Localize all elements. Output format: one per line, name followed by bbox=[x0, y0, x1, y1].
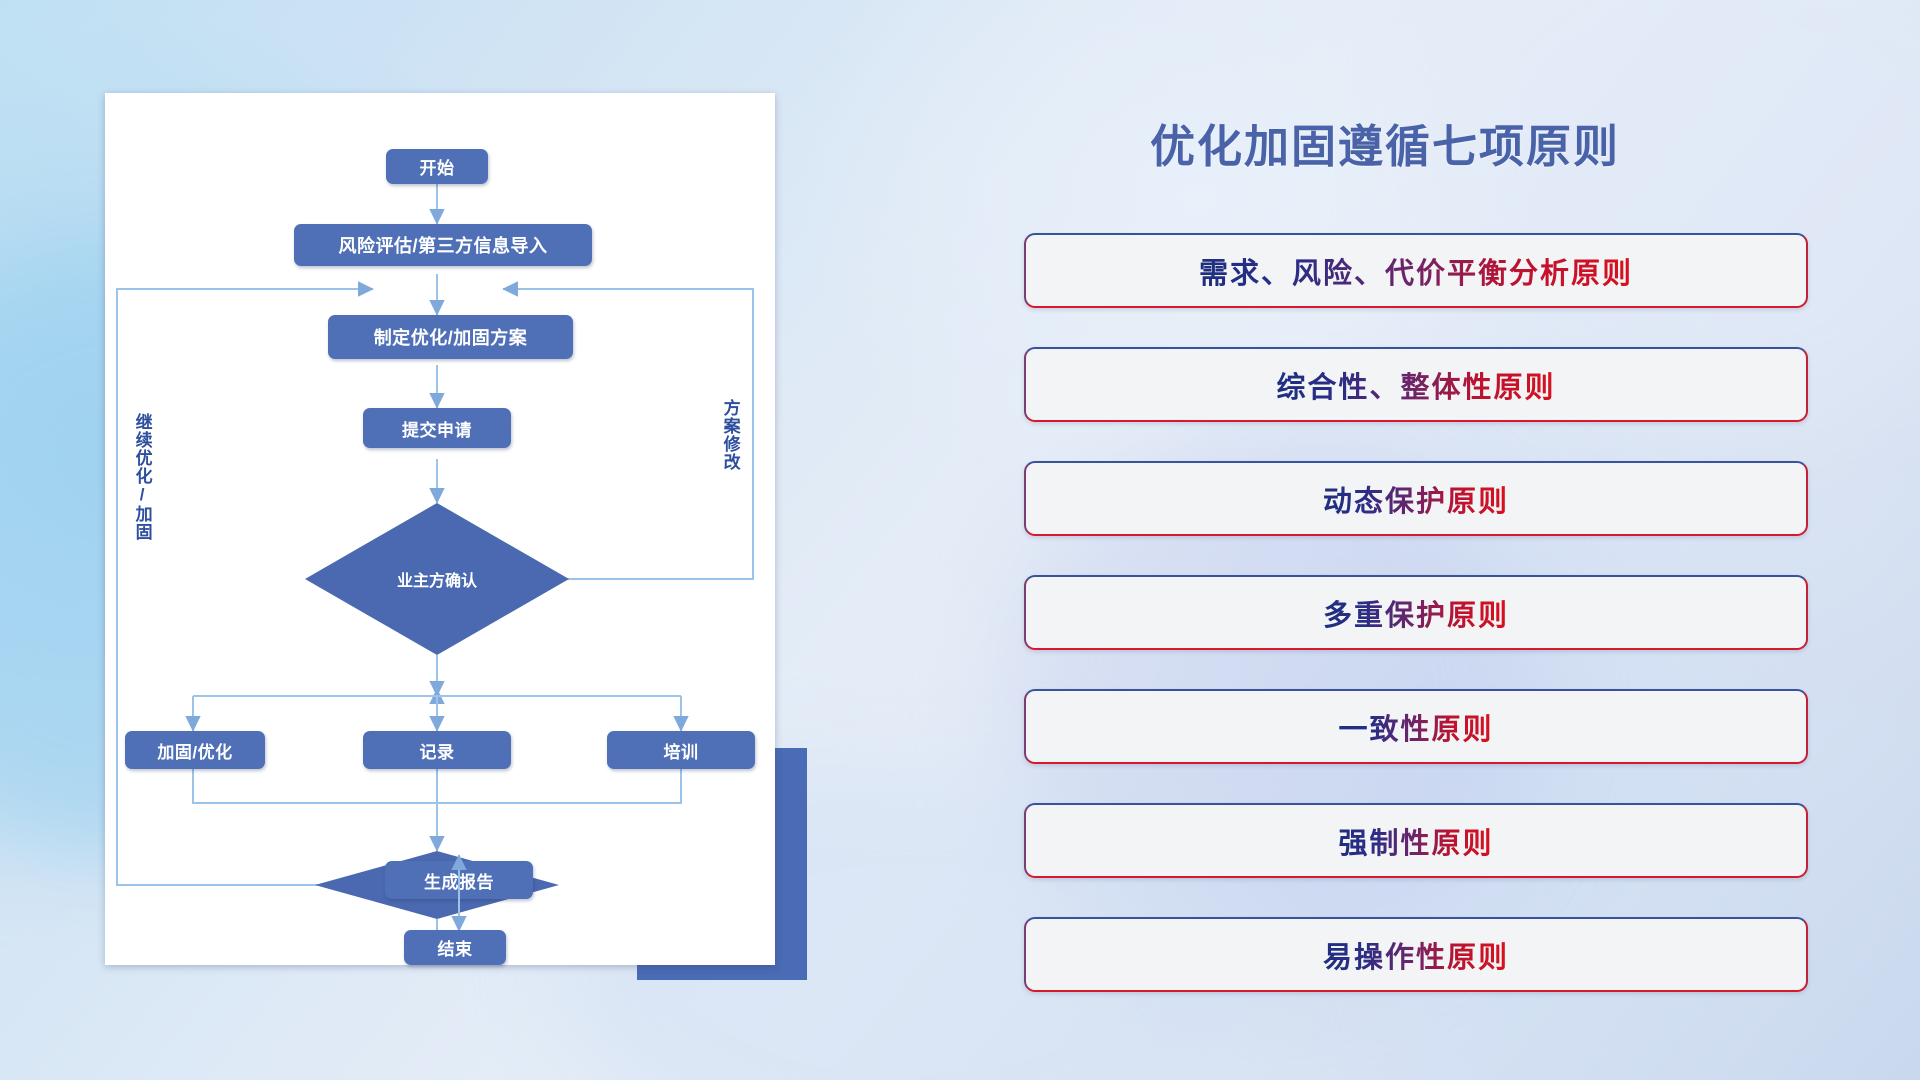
page-title: 优化加固遵循七项原则 bbox=[1150, 110, 1620, 175]
principle-label: 易操作性原则 bbox=[1323, 934, 1509, 976]
principle-item[interactable]: 一致性原则 bbox=[1024, 689, 1808, 764]
flowchart-card: 开始 风险评估/第三方信息导入 制定优化/加固方案 提交申请 业主方确认 加固/… bbox=[105, 93, 775, 965]
flow-node-plan[interactable]: 制定优化/加固方案 bbox=[328, 315, 573, 359]
principle-label: 多重保护原则 bbox=[1323, 592, 1509, 634]
principle-item[interactable]: 易操作性原则 bbox=[1024, 917, 1808, 992]
flow-node-record[interactable]: 记录 bbox=[363, 731, 511, 769]
principle-label: 一致性原则 bbox=[1338, 706, 1493, 748]
principle-item[interactable]: 多重保护原则 bbox=[1024, 575, 1808, 650]
flowchart-canvas: 开始 风险评估/第三方信息导入 制定优化/加固方案 提交申请 业主方确认 加固/… bbox=[105, 93, 775, 965]
principle-item[interactable]: 综合性、整体性原则 bbox=[1024, 347, 1808, 422]
flow-node-risk-assessment[interactable]: 风险评估/第三方信息导入 bbox=[294, 224, 592, 266]
principle-item[interactable]: 强制性原则 bbox=[1024, 803, 1808, 878]
flow-node-submit-application[interactable]: 提交申请 bbox=[363, 408, 511, 448]
slide-root: 开始 风险评估/第三方信息导入 制定优化/加固方案 提交申请 业主方确认 加固/… bbox=[0, 0, 1920, 1080]
principle-label: 强制性原则 bbox=[1338, 820, 1493, 862]
principle-item[interactable]: 需求、风险、代价平衡分析原则 bbox=[1024, 233, 1808, 308]
principles-list: 需求、风险、代价平衡分析原则 综合性、整体性原则 动态保护原则 多重保护原则 一… bbox=[1024, 233, 1808, 992]
flow-node-training[interactable]: 培训 bbox=[607, 731, 755, 769]
decision-owner-confirm bbox=[305, 503, 569, 655]
flow-edge-label-right-loop: 方案修改 bbox=[721, 399, 739, 471]
flow-node-reinforce-optimize[interactable]: 加固/优化 bbox=[125, 731, 265, 769]
flow-node-start[interactable]: 开始 bbox=[386, 149, 488, 184]
principle-label: 需求、风险、代价平衡分析原则 bbox=[1199, 250, 1633, 292]
flow-node-generate-report-visible[interactable]: 生成报告 bbox=[385, 861, 533, 899]
flow-edge-label-left-loop: 继续优化/加固 bbox=[133, 413, 151, 541]
flow-node-end[interactable]: 结束 bbox=[404, 930, 506, 965]
principle-label: 综合性、整体性原则 bbox=[1276, 364, 1555, 406]
principle-label: 动态保护原则 bbox=[1323, 478, 1509, 520]
principle-item[interactable]: 动态保护原则 bbox=[1024, 461, 1808, 536]
